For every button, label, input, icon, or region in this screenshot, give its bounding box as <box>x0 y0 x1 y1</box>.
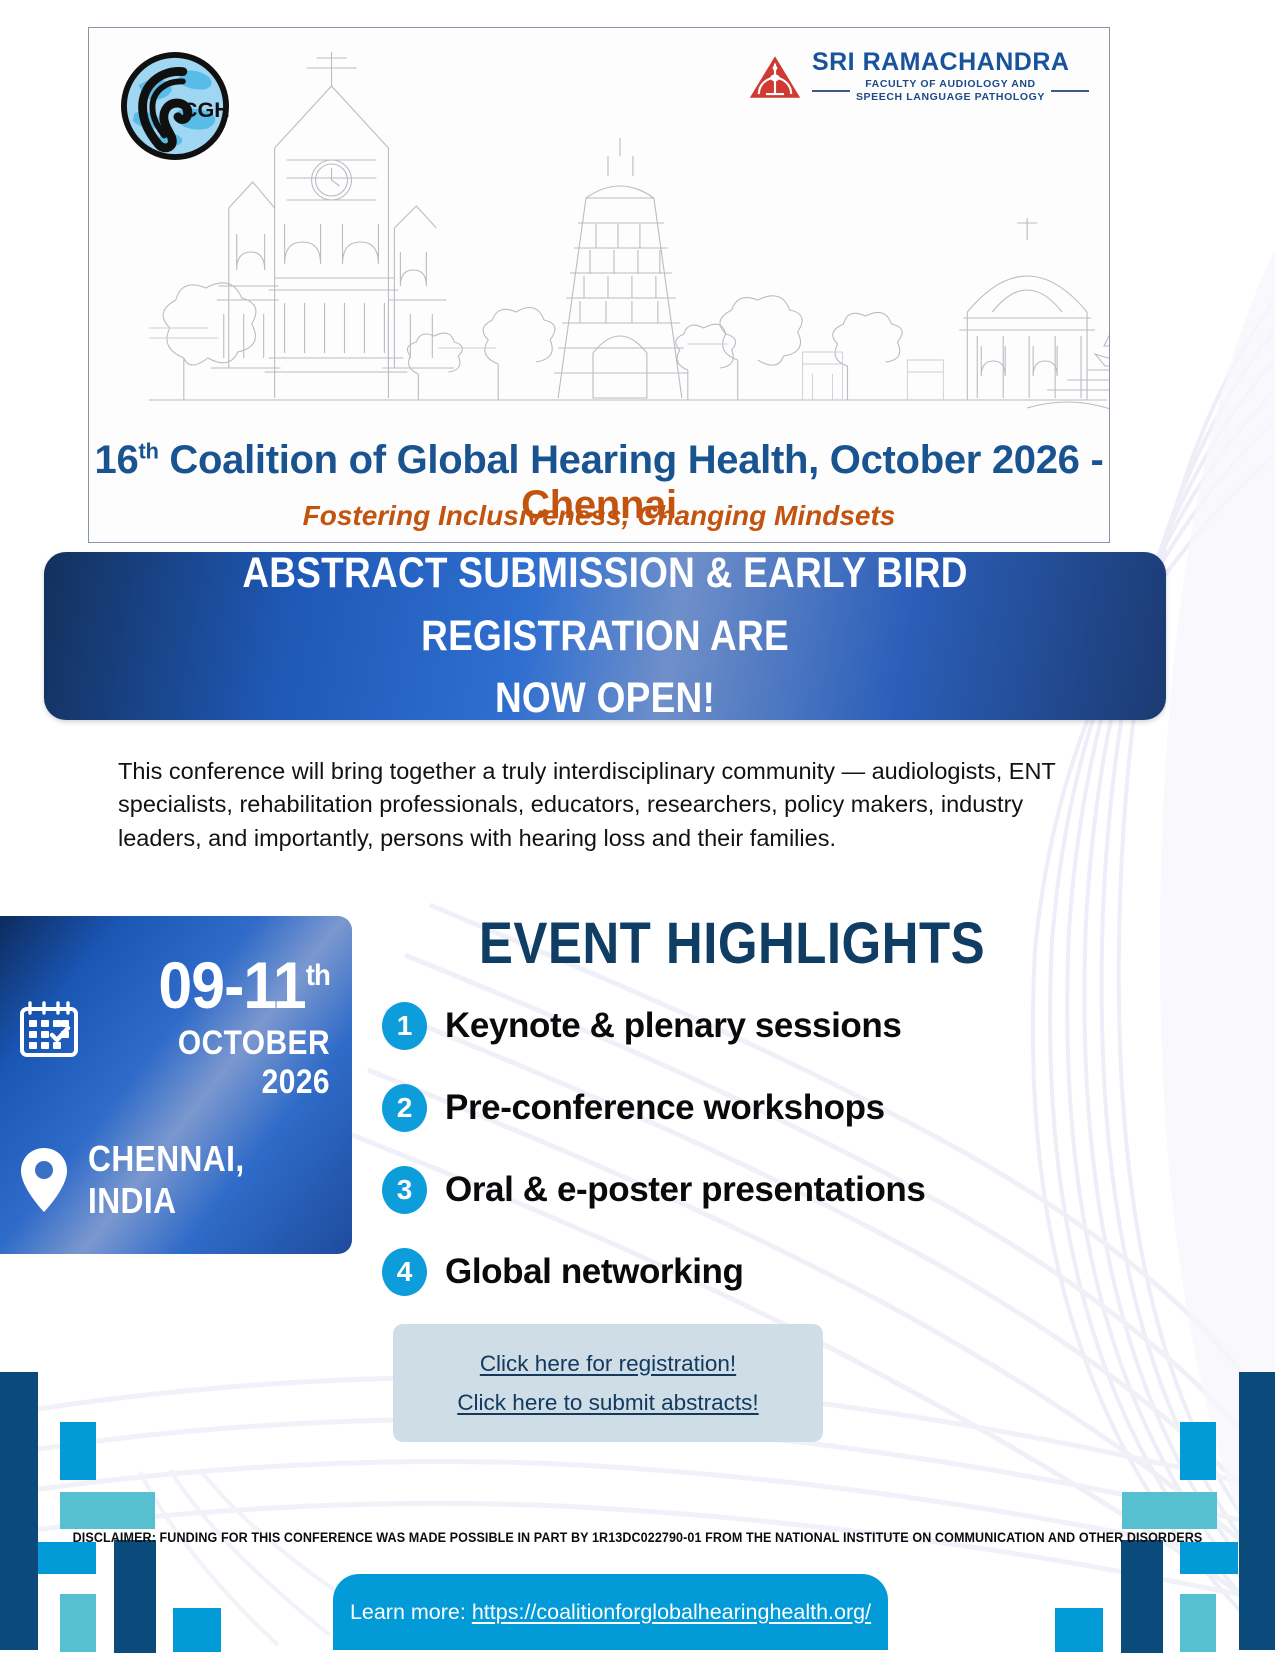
date-row: 09-11th OCTOBER 2026 <box>14 954 338 1102</box>
decorative-bar-left-navy-2 <box>114 1540 156 1653</box>
partner-subtitle-line2: SPEECH LANGUAGE PATHOLOGY <box>856 91 1045 103</box>
event-highlights-list: 1 Keynote & plenary sessions 2 Pre-confe… <box>382 985 1122 1313</box>
decorative-bar-right-blue-1 <box>1180 1422 1216 1480</box>
registration-links-box: Click here for registration! Click here … <box>393 1324 823 1442</box>
conference-title-ordinal-suffix: th <box>138 439 158 464</box>
decorative-bar-right-navy-2 <box>1121 1540 1163 1653</box>
decorative-bar-right-blue-3 <box>1055 1608 1103 1652</box>
cghh-logo-text: CGHH <box>182 97 229 122</box>
highlight-label: Keynote & plenary sessions <box>445 1006 901 1046</box>
abstract-submission-link[interactable]: Click here to submit abstracts! <box>457 1390 758 1416</box>
partner-subtitle-line1: FACULTY OF AUDIOLOGY AND <box>865 78 1036 90</box>
highlight-number-badge: 2 <box>382 1084 427 1132</box>
highlight-number-badge: 1 <box>382 1002 427 1050</box>
cghh-logo-icon: CGHH <box>121 52 229 160</box>
website-url-link[interactable]: https://coalitionforglobalhearinghealth.… <box>472 1600 871 1624</box>
event-highlights-title: EVENT HIGHLIGHTS <box>424 910 1040 977</box>
location-pin-icon <box>18 1144 70 1216</box>
highlight-label: Global networking <box>445 1252 744 1292</box>
location-row: CHENNAI, INDIA <box>18 1138 338 1222</box>
sri-ramachandra-logo: SRI RAMACHANDRA FACULTY OF AUDIOLOGY AND… <box>748 48 1089 106</box>
highlight-item: 4 Global networking <box>382 1231 1122 1313</box>
decorative-bar-right-navy-tall <box>1239 1372 1275 1650</box>
announcement-banner: ABSTRACT SUBMISSION & EARLY BIRD REGISTR… <box>44 552 1166 720</box>
event-location: CHENNAI, INDIA <box>88 1138 308 1222</box>
registration-link[interactable]: Click here for registration! <box>480 1351 736 1377</box>
highlight-item: 2 Pre-conference workshops <box>382 1067 1122 1149</box>
highlight-number-badge: 3 <box>382 1166 427 1214</box>
decorative-bar-left-blue-2 <box>38 1542 96 1574</box>
footer-bar: Learn more: https://coalitionforglobalhe… <box>333 1574 888 1650</box>
conference-title-main: Coalition of Global Hearing Health, Octo… <box>159 438 1104 482</box>
partner-rule-left <box>812 90 850 92</box>
decorative-bar-right-teal-2 <box>1180 1594 1216 1652</box>
partner-name: SRI RAMACHANDRA <box>812 50 1070 75</box>
decorative-bar-right-teal-1 <box>1122 1492 1217 1529</box>
decorative-bar-left-navy-tall <box>0 1372 38 1650</box>
conference-title-ordinal: 16 <box>95 438 139 482</box>
conference-tagline: Fostering Inclusiveness, Changing Mindse… <box>89 500 1109 532</box>
date-location-card: 09-11th OCTOBER 2026 CHENNAI, INDIA <box>0 916 352 1254</box>
sri-ramachandra-emblem-icon <box>748 54 802 100</box>
announcement-line-2: NOW OPEN! <box>495 674 715 722</box>
highlight-item: 1 Keynote & plenary sessions <box>382 985 1122 1067</box>
funding-disclaimer: DISCLAIMER: FUNDING FOR THIS CONFERENCE … <box>45 1530 1231 1545</box>
decorative-bar-left-blue-1 <box>60 1422 96 1480</box>
highlight-label: Pre-conference workshops <box>445 1088 885 1128</box>
event-dates-ordinal: th <box>306 959 330 992</box>
calendar-icon <box>14 993 84 1063</box>
highlight-item: 3 Oral & e-poster presentations <box>382 1149 1122 1231</box>
learn-more-prefix: Learn more: <box>350 1600 472 1624</box>
announcement-line-1: ABSTRACT SUBMISSION & EARLY BIRD REGISTR… <box>242 549 967 659</box>
event-dates-range: 09-11 <box>158 948 305 1022</box>
learn-more-text: Learn more: https://coalitionforglobalhe… <box>350 1600 871 1625</box>
conference-header-banner: CGHH SRI RAMACHANDRA FACULTY OF AUDIOLOG… <box>88 27 1110 543</box>
partner-rule-right <box>1051 90 1089 92</box>
event-month-year: OCTOBER 2026 <box>114 1024 330 1102</box>
intro-paragraph: This conference will bring together a tr… <box>118 755 1083 855</box>
decorative-bar-right-blue-2 <box>1180 1542 1238 1574</box>
decorative-bar-left-teal-1 <box>60 1492 155 1529</box>
decorative-bar-left-teal-2 <box>60 1594 96 1652</box>
highlight-number-badge: 4 <box>382 1248 427 1296</box>
highlight-label: Oral & e-poster presentations <box>445 1170 925 1210</box>
event-dates: 09-11th <box>104 954 330 1017</box>
decorative-bar-left-blue-3 <box>173 1608 221 1652</box>
